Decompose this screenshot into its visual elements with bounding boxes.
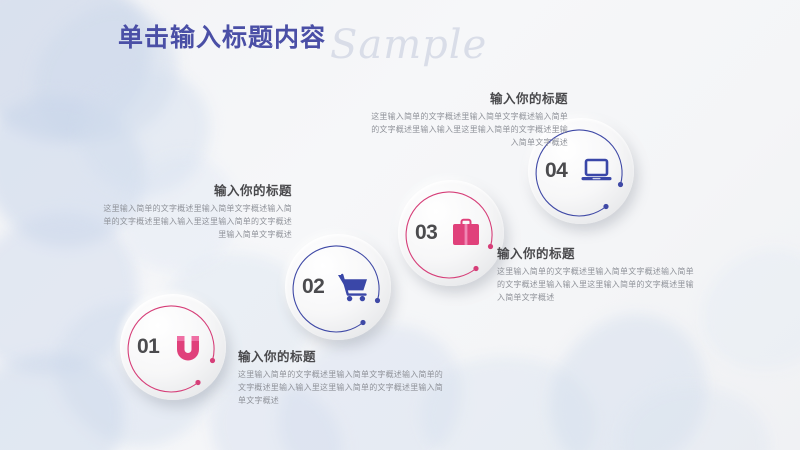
step-number-04: 04	[545, 159, 567, 183]
step-circle-03[interactable]: 03	[398, 180, 504, 286]
petal-shape	[687, 236, 800, 384]
step-circle-03-inner: 03	[398, 180, 504, 286]
shopping-cart-icon	[333, 267, 373, 307]
text-block-04-heading: 输入你的标题	[370, 88, 568, 107]
magnet-icon	[168, 327, 208, 367]
text-block-01: 输入你的标题 这里输入简单的文字概述里输入简单文字概述输入简单的文字概述里输入输…	[238, 346, 443, 408]
text-block-02: 输入你的标题 这里输入简单的文字概述里输入简单文字概述输入简单的文字概述里输入输…	[100, 180, 292, 242]
text-block-03-body: 这里输入简单的文字概述里输入简单文字概述输入简单的文字概述里输入输入里这里输入简…	[497, 266, 697, 305]
text-block-01-body: 这里输入简单的文字概述里输入简单文字概述输入简单的文字概述里输入输入里这里输入简…	[238, 369, 443, 408]
petal-shape	[606, 367, 783, 450]
sample-watermark: Sample	[330, 22, 487, 68]
laptop-icon	[576, 151, 616, 191]
text-block-01-heading: 输入你的标题	[238, 346, 443, 365]
petal-shape	[519, 289, 737, 450]
step-number-03: 03	[415, 221, 437, 245]
text-block-03-heading: 输入你的标题	[497, 243, 697, 262]
step-circle-01-inner: 01	[120, 294, 226, 400]
petal-shape	[0, 344, 134, 450]
text-block-02-heading: 输入你的标题	[100, 180, 292, 199]
text-block-04-body: 这里输入简单的文字概述里输入简单文字概述输入简单的文字概述里输入输入里这里输入简…	[370, 111, 568, 150]
petal-shape	[0, 60, 174, 281]
briefcase-icon	[446, 213, 486, 253]
step-circle-02-inner: 02	[285, 234, 391, 340]
page-title: 单击输入标题内容	[118, 18, 326, 54]
text-block-03: 输入你的标题 这里输入简单的文字概述里输入简单文字概述输入简单的文字概述里输入输…	[497, 243, 697, 305]
text-block-02-body: 这里输入简单的文字概述里输入简单文字概述输入简单的文字概述里输入输入里这里输入简…	[100, 203, 292, 242]
step-circle-01[interactable]: 01	[120, 294, 226, 400]
step-number-02: 02	[302, 275, 324, 299]
text-block-04: 输入你的标题 这里输入简单的文字概述里输入简单文字概述输入简单的文字概述里输入输…	[370, 88, 568, 150]
step-circle-02[interactable]: 02	[285, 234, 391, 340]
step-number-01: 01	[137, 335, 159, 359]
slide-canvas: 单击输入标题内容 Sample 01	[0, 0, 800, 450]
